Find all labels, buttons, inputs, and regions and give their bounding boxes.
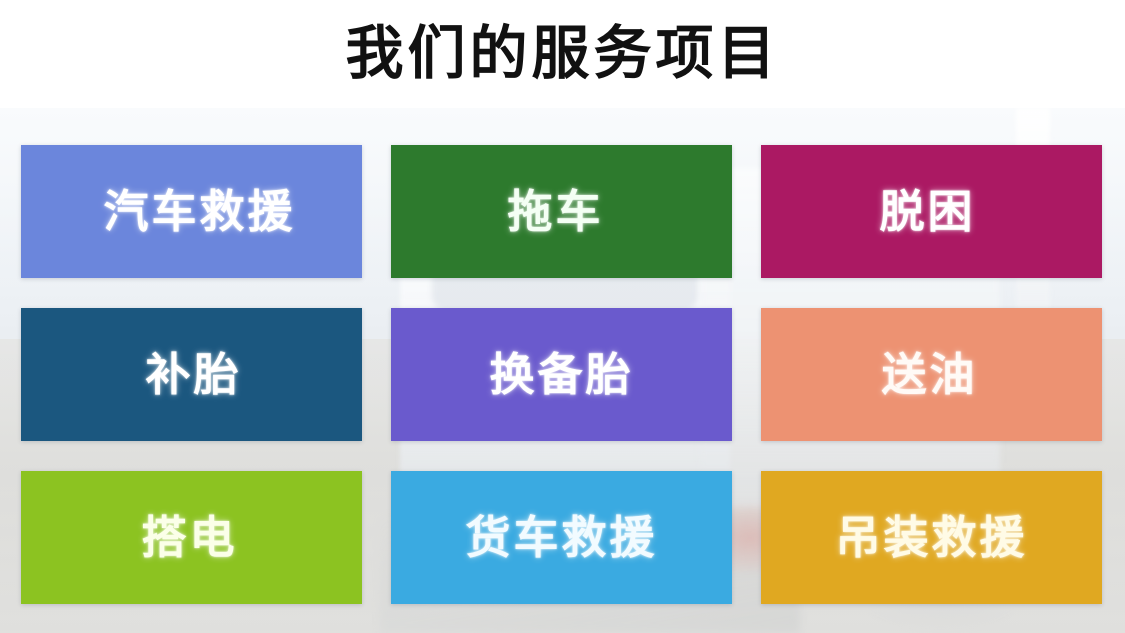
service-poster: 我们的服务项目 汽车救援 拖车 脱困 补胎 换备胎 送油 搭电 货车救援 吊装救… [0,0,1125,633]
service-tile-label: 搭电 [141,515,237,560]
service-tile-label: 拖车 [507,189,603,234]
service-tile-fuel-delivery[interactable]: 送油 [761,308,1102,441]
service-tile-label: 汽车救援 [103,189,295,234]
service-tile-extrication[interactable]: 脱困 [761,145,1102,278]
service-tile-label: 吊装救援 [835,515,1027,560]
service-tile-tow-truck[interactable]: 拖车 [391,145,732,278]
service-tile-label: 换备胎 [489,352,633,397]
service-tile-tire-repair[interactable]: 补胎 [21,308,362,441]
page-title: 我们的服务项目 [345,25,779,83]
service-tile-label: 补胎 [145,352,241,397]
service-tile-hoisting-rescue[interactable]: 吊装救援 [761,471,1102,604]
service-tile-car-rescue[interactable]: 汽车救援 [21,145,362,278]
title-bar: 我们的服务项目 [0,0,1125,108]
service-tile-spare-tire-change[interactable]: 换备胎 [391,308,732,441]
service-tile-label: 送油 [881,352,977,397]
service-grid: 汽车救援 拖车 脱困 补胎 换备胎 送油 搭电 货车救援 吊装救援 [21,145,1102,603]
service-tile-label: 脱困 [879,189,975,234]
service-tile-jump-start[interactable]: 搭电 [21,471,362,604]
service-tile-truck-rescue[interactable]: 货车救援 [391,471,732,604]
service-tile-label: 货车救援 [465,515,657,560]
